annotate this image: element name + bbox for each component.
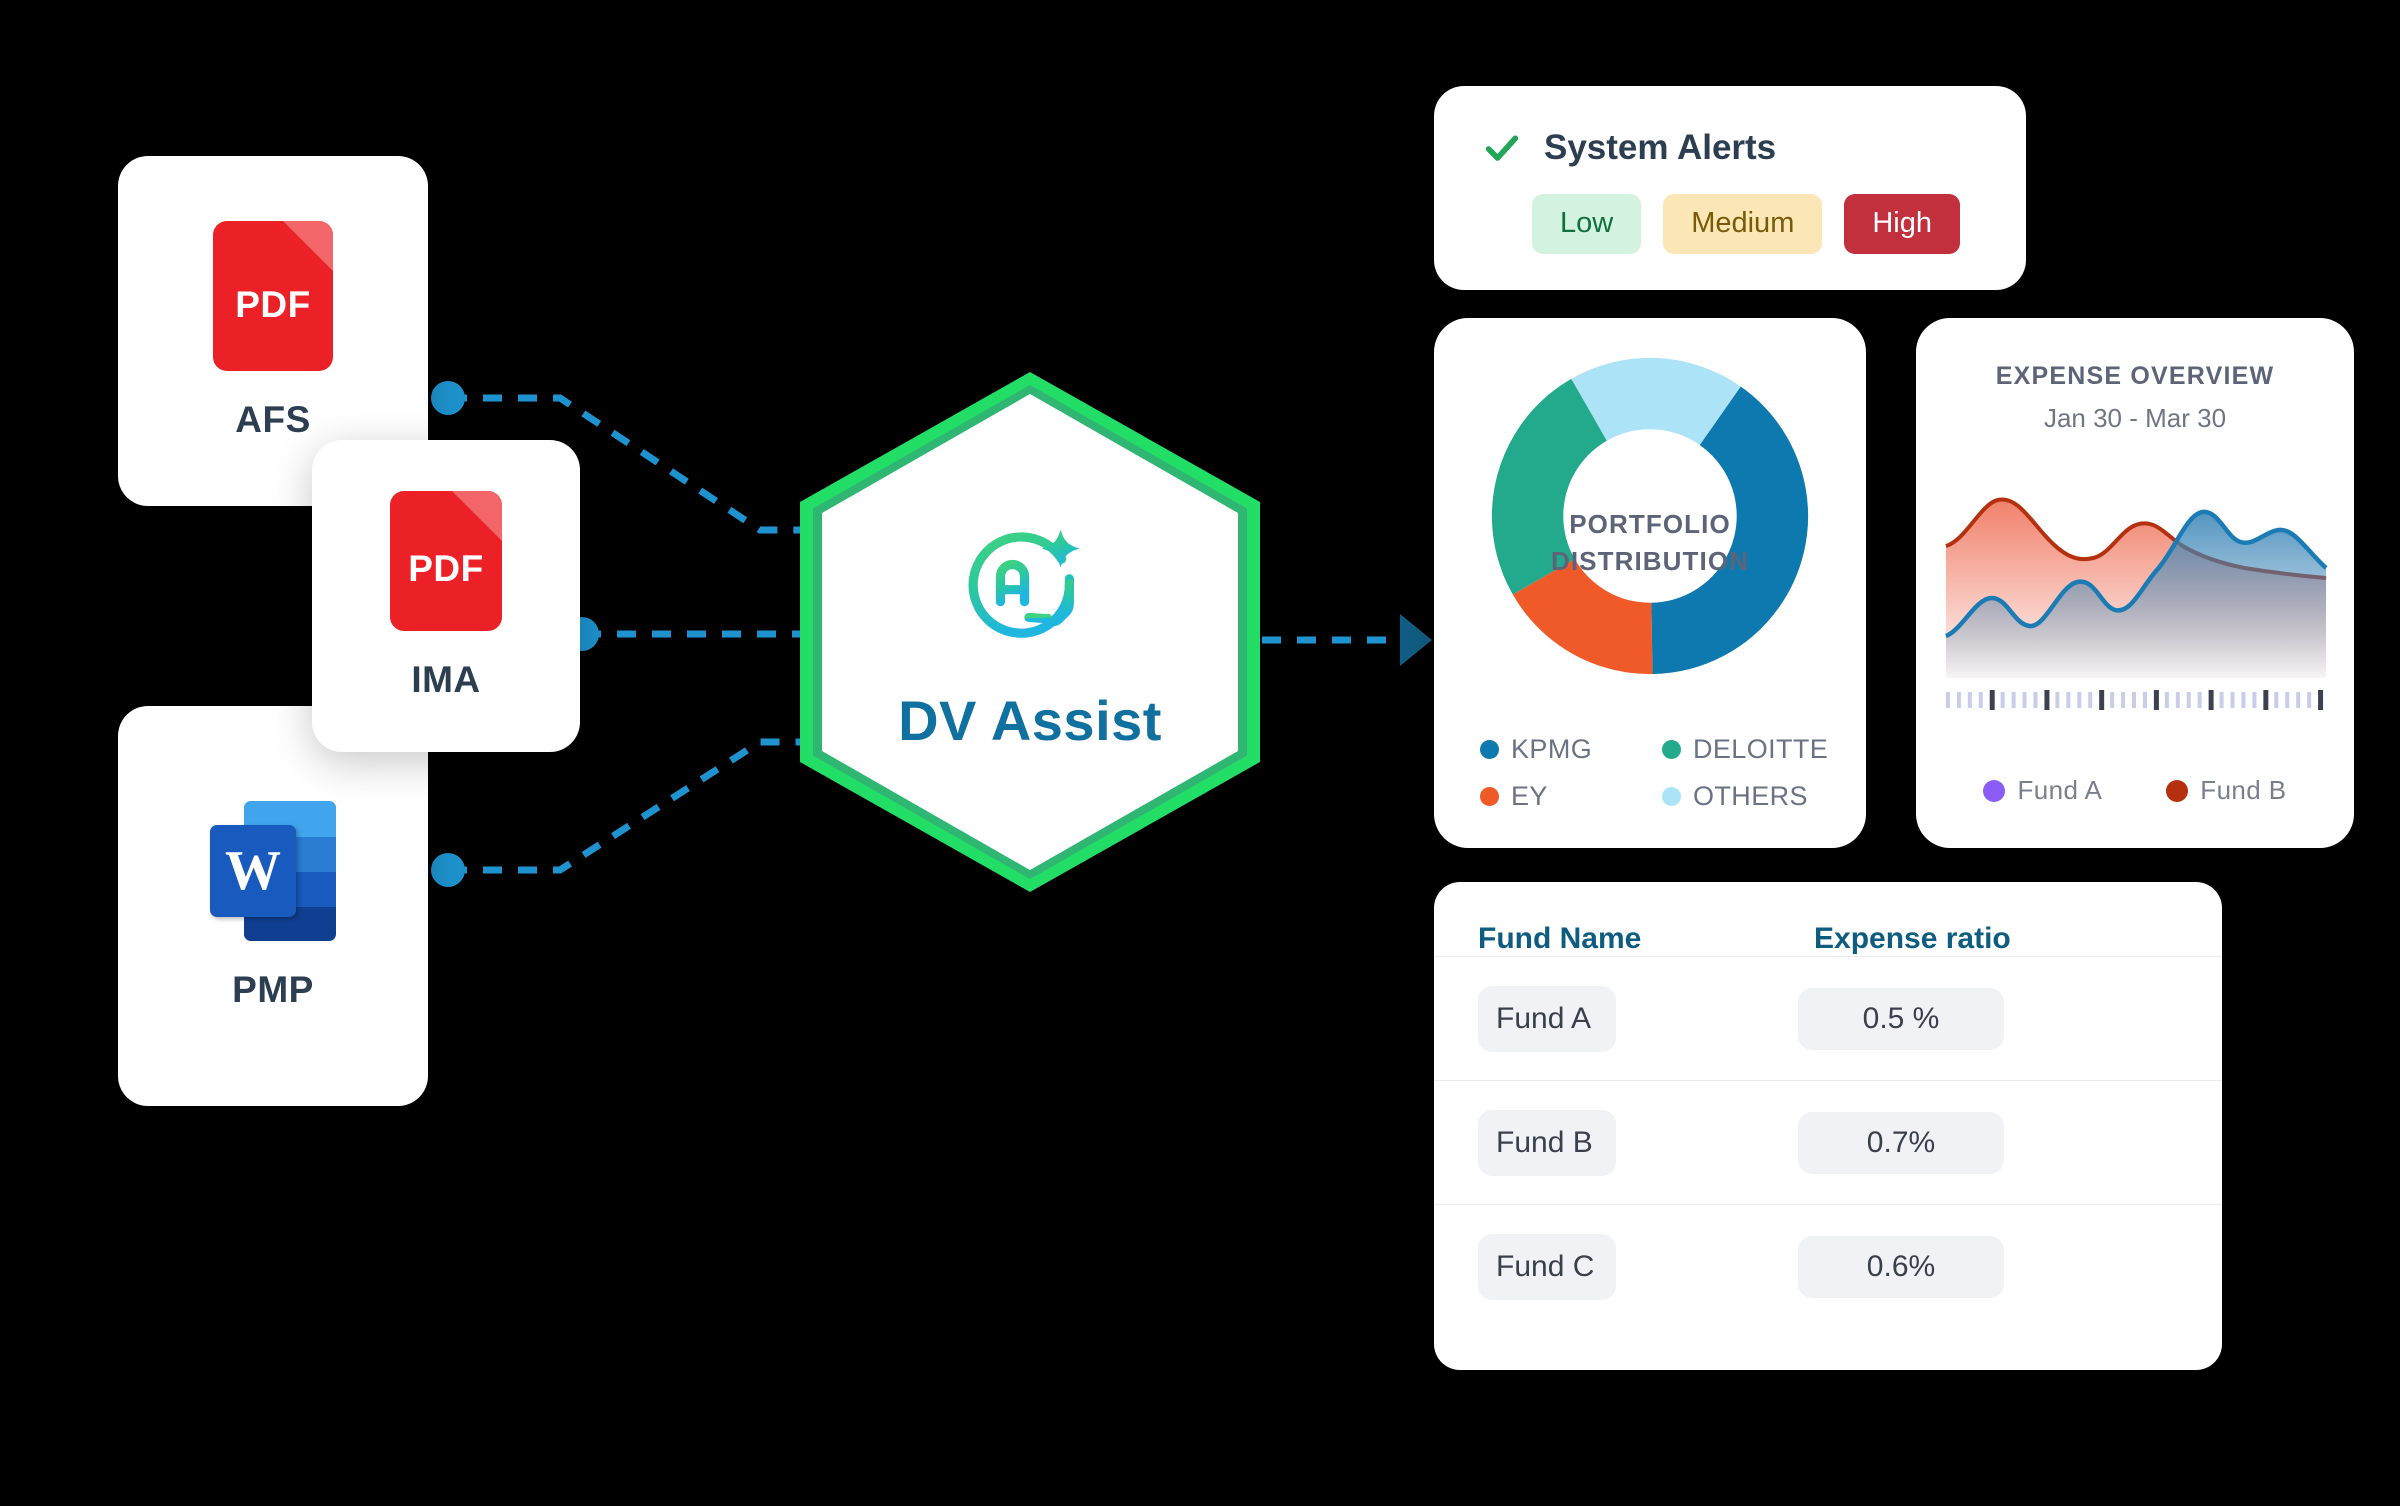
pdf-icon-label: PDF xyxy=(390,548,502,590)
dv-assist-hub[interactable]: DV Assist xyxy=(800,372,1260,892)
column-header-expense-ratio: Expense ratio xyxy=(1814,922,2114,956)
legend-label-fund-b: Fund B xyxy=(2200,775,2286,806)
donut-center-label: PORTFOLIO DISTRIBUTION xyxy=(1434,506,1866,580)
legend-item-fund-b: Fund B xyxy=(2166,775,2286,806)
cell-fund-name: Fund B xyxy=(1478,1110,1616,1176)
table-row[interactable]: Fund A 0.5 % xyxy=(1434,956,2222,1080)
legend-label-ey: EY xyxy=(1511,781,1548,812)
legend-item-ey: EY xyxy=(1480,781,1662,812)
legend-label-others: OTHERS xyxy=(1693,781,1808,812)
pdf-icon-label: PDF xyxy=(213,284,333,326)
connector-dot-pmp xyxy=(431,853,465,887)
column-header-fund-name: Fund Name xyxy=(1478,922,1814,956)
document-label-afs: AFS xyxy=(235,399,311,441)
alert-badge-high[interactable]: High xyxy=(1844,194,1960,254)
cell-fund-name: Fund C xyxy=(1478,1234,1616,1300)
legend-item-fund-a: Fund A xyxy=(1983,775,2102,806)
table-header-row: Fund Name Expense ratio xyxy=(1434,882,2222,956)
expense-overview-title: EXPENSE OVERVIEW xyxy=(1916,318,2354,391)
legend-label-deloitte: DELOITTE xyxy=(1693,734,1828,765)
table-row[interactable]: Fund B 0.7% xyxy=(1434,1080,2222,1204)
expense-overview-daterange: Jan 30 - Mar 30 xyxy=(1916,391,2354,434)
legend-dot-kpmg xyxy=(1480,740,1499,759)
check-icon xyxy=(1482,128,1522,168)
expense-area-chart xyxy=(1936,458,2334,738)
arrow-head-to-dashboard xyxy=(1400,614,1432,666)
system-alerts-card: System Alerts Low Medium High xyxy=(1434,86,2026,290)
funds-table-card: Fund Name Expense ratio Fund A 0.5 % Fun… xyxy=(1434,882,2222,1370)
pdf-file-icon: PDF xyxy=(213,221,333,371)
ai-chat-sparkle-icon xyxy=(960,512,1100,652)
cell-fund-name: Fund A xyxy=(1478,986,1616,1052)
portfolio-legend: KPMG DELOITTE EY OTHERS xyxy=(1480,734,1844,812)
legend-item-kpmg: KPMG xyxy=(1480,734,1662,765)
word-icon-label: W xyxy=(210,825,296,917)
expense-overview-card: EXPENSE OVERVIEW Jan 30 - Mar 30 xyxy=(1916,318,2354,848)
legend-dot-deloitte xyxy=(1662,740,1681,759)
document-card-pmp[interactable]: W PMP xyxy=(118,706,428,1106)
legend-dot-ey xyxy=(1480,787,1499,806)
legend-label-kpmg: KPMG xyxy=(1511,734,1592,765)
cell-expense-ratio: 0.5 % xyxy=(1798,988,2004,1050)
document-label-pmp: PMP xyxy=(232,969,314,1011)
document-card-ima[interactable]: PDF IMA xyxy=(312,440,580,752)
alert-badge-medium[interactable]: Medium xyxy=(1663,194,1822,254)
chart-axis-ticks xyxy=(1946,690,2323,710)
cell-expense-ratio: 0.6% xyxy=(1798,1236,2004,1298)
table-row[interactable]: Fund C 0.6% xyxy=(1434,1204,2222,1328)
portfolio-distribution-card: PORTFOLIO DISTRIBUTION KPMG DELOITTE EY … xyxy=(1434,318,1866,848)
alert-badge-low[interactable]: Low xyxy=(1532,194,1641,254)
donut-center-line2: DISTRIBUTION xyxy=(1434,543,1866,580)
donut-center-line1: PORTFOLIO xyxy=(1434,506,1866,543)
document-label-ima: IMA xyxy=(411,659,480,701)
alert-level-group: Low Medium High xyxy=(1434,168,2026,254)
diagram-canvas: PDF AFS PDF IMA W PMP xyxy=(0,0,2400,1506)
legend-item-others: OTHERS xyxy=(1662,781,1844,812)
system-alerts-title: System Alerts xyxy=(1544,128,1776,168)
connector-dot-afs xyxy=(431,381,465,415)
legend-label-fund-a: Fund A xyxy=(2017,775,2102,806)
hub-title: DV Assist xyxy=(898,688,1162,753)
cell-expense-ratio: 0.7% xyxy=(1798,1112,2004,1174)
connector-pmp xyxy=(448,742,800,870)
legend-dot-fund-a xyxy=(1983,780,2005,802)
legend-dot-others xyxy=(1662,787,1681,806)
word-file-icon: W xyxy=(210,801,336,941)
expense-legend: Fund A Fund B xyxy=(1916,775,2354,806)
pdf-file-icon: PDF xyxy=(390,491,502,631)
legend-dot-fund-b xyxy=(2166,780,2188,802)
legend-item-deloitte: DELOITTE xyxy=(1662,734,1844,765)
